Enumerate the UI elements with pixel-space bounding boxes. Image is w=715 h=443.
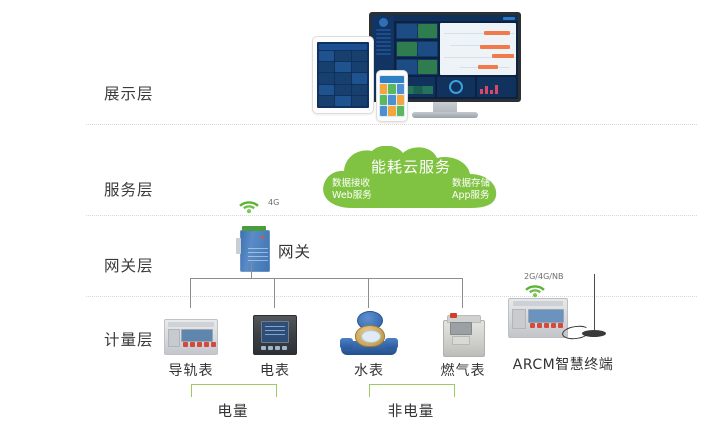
monitor-stand-base	[412, 112, 478, 118]
topbar-pill	[503, 17, 515, 20]
tablet-dashboard	[317, 42, 369, 108]
bracket-electric-group	[191, 384, 277, 397]
gateway-label: 网关	[278, 240, 311, 262]
divider-service-gateway	[86, 215, 697, 216]
tablet-topbar	[319, 44, 367, 50]
widget-gauge	[437, 77, 476, 97]
cloud-feature-label: App服务	[452, 190, 490, 202]
dashboard-widgets	[394, 77, 518, 99]
stat-card	[396, 23, 438, 39]
cloud-service-node: 能耗云服务 数据接收 Web服务 数据存储 App服务	[316, 146, 506, 212]
cloud-feature-label: 数据存储	[452, 178, 490, 190]
map-marker	[480, 45, 510, 49]
phone-topbar	[380, 76, 404, 83]
sidebar-line	[376, 53, 391, 55]
phone-app-screen	[379, 75, 405, 117]
map-marker	[484, 31, 510, 35]
sidebar-line	[376, 33, 391, 35]
arcm-device-icon	[508, 298, 568, 338]
tablet-grid	[319, 51, 367, 106]
meter-label-din-rail: 导轨表	[152, 360, 230, 380]
sidebar-line	[376, 29, 391, 31]
arcm-terminal-node: ARCM智慧终端	[498, 270, 628, 370]
gas-meter-icon	[424, 303, 502, 355]
dashboard-avatar	[379, 18, 388, 27]
layer-label-presentation: 展示层	[104, 82, 196, 104]
cloud-feature-columns: 数据接收 Web服务 数据存储 App服务	[332, 178, 490, 202]
antenna-icon	[594, 274, 595, 332]
map-marker	[492, 54, 514, 58]
cloud-column-right: 数据存储 App服务	[452, 178, 490, 202]
sidebar-line	[376, 41, 391, 43]
smartphone-device	[376, 70, 408, 122]
bar-group	[480, 84, 498, 94]
gateway-status-led	[261, 236, 264, 239]
meter-din-rail: 导轨表	[152, 303, 230, 380]
dashboard-stat-cards	[396, 23, 438, 75]
meter-label-electric: 电表	[236, 360, 314, 380]
connector-tree	[150, 262, 490, 308]
electric-meter-icon	[236, 303, 314, 355]
presentation-devices	[300, 8, 560, 120]
divider-presentation-service	[86, 124, 697, 125]
meter-water: 水表	[330, 297, 408, 380]
map-marker	[478, 65, 498, 69]
tree-bus	[190, 278, 462, 279]
meter-label-water: 水表	[330, 360, 408, 380]
sidebar-line	[376, 37, 391, 39]
sidebar-line	[376, 45, 391, 47]
cloud-title: 能耗云服务	[316, 156, 506, 177]
din-rail-meter-icon	[152, 303, 230, 355]
widget-bars	[477, 77, 516, 97]
dashboard-main	[394, 21, 518, 77]
dashboard-map	[440, 23, 516, 75]
phone-icon-grid	[380, 84, 404, 116]
diagram-canvas: 展示层 服务层 网关层 计量层	[0, 0, 715, 443]
meter-electric: 电表	[236, 303, 314, 380]
cloud-feature-label: 数据接收	[332, 178, 372, 190]
tablet-device	[312, 36, 374, 114]
stat-card	[396, 41, 438, 57]
cloud-column-left: 数据接收 Web服务	[332, 178, 372, 202]
bracket-non-electric-group	[369, 384, 455, 397]
group-label-non-electric: 非电量	[369, 400, 453, 421]
wifi-signal-icon	[238, 198, 260, 214]
cloud-feature-label: Web服务	[332, 190, 372, 202]
layer-label-service: 服务层	[104, 178, 196, 200]
tree-trunk	[251, 262, 252, 278]
gauge-ring	[449, 80, 463, 94]
sidebar-line	[376, 49, 391, 51]
gateway-wifi-icon	[238, 198, 260, 214]
dashboard-body	[394, 15, 518, 99]
gateway-network-label: 4G	[268, 198, 279, 207]
group-label-electric: 电量	[191, 400, 275, 421]
arcm-terminal-label: ARCM智慧终端	[490, 354, 636, 374]
water-meter-icon	[330, 297, 408, 355]
